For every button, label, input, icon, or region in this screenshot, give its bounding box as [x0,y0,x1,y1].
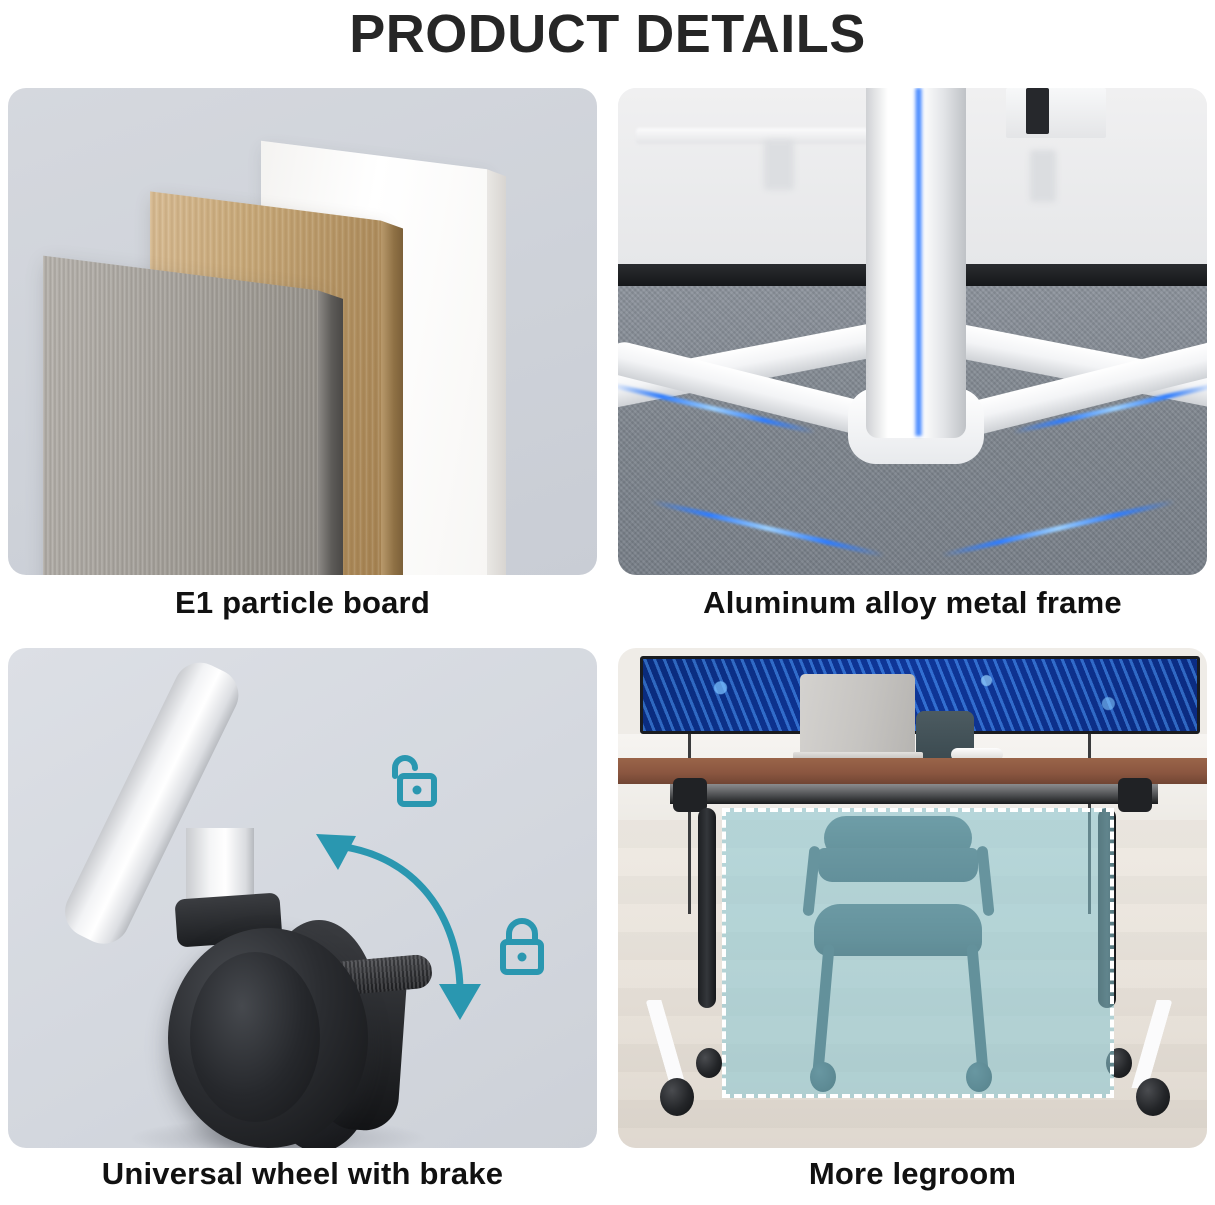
product-details-infographic: PRODUCT DETAILS E1 particle board [0,0,1215,1205]
wall-blur-right [1030,150,1056,202]
caption-metal-frame: Aluminum alloy metal frame [618,585,1207,621]
wall-blur-left [764,140,794,190]
legroom-image [618,648,1207,1148]
panel-grid: E1 particle board [8,88,1207,1198]
panel-universal-wheel: Universal wheel with brake [8,648,597,1148]
brake-toggle-arrow-icon [308,808,488,1033]
wall-rail [636,128,868,144]
panel-particle-board: E1 particle board [8,88,597,575]
desk-apron-highlight [670,784,1158,804]
grey-board [43,256,318,575]
desk-bracket-left [673,778,707,812]
caster-wheel-hub [190,952,320,1122]
desk-leg-left [698,808,716,1008]
legroom-highlight-area [722,808,1114,1098]
caption-universal-wheel: Universal wheel with brake [8,1156,597,1192]
desk-caster-back-left [696,1048,722,1078]
desk-caster-front-right [1136,1078,1170,1116]
desk-bracket-right [1118,778,1152,812]
caption-particle-board: E1 particle board [8,585,597,621]
laptop-lid [800,674,915,759]
universal-wheel-image [8,648,597,1148]
particle-board-image [8,88,597,575]
wall-fixture [1006,88,1106,138]
caption-legroom: More legroom [618,1156,1207,1192]
column-glow-line [914,88,923,436]
metal-frame-image [618,88,1207,575]
lock-icon [493,916,553,985]
panel-metal-frame: Aluminum alloy metal frame [618,88,1207,575]
page-title: PRODUCT DETAILS [0,2,1215,66]
desk-caster-front-left [660,1078,694,1116]
panel-legroom: More legroom [618,648,1207,1148]
wall-fixture-dark [1026,88,1049,134]
